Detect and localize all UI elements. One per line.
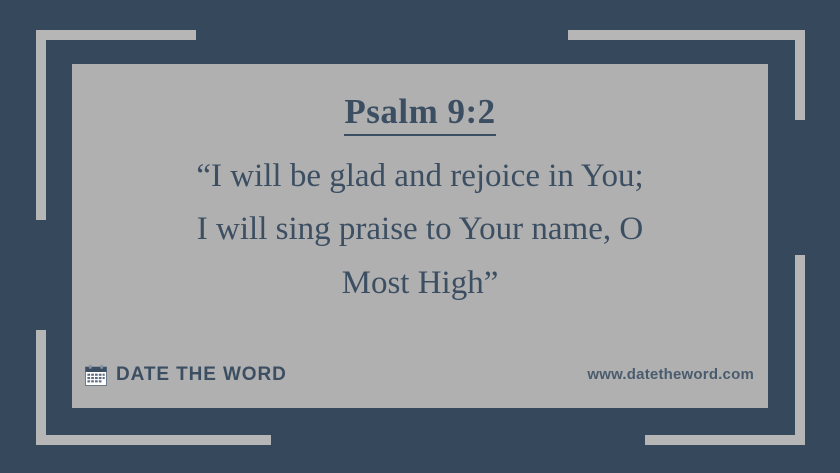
calendar-icon: [84, 363, 108, 387]
verse-text: “I will be glad and rejoice in You; I wi…: [72, 150, 768, 310]
corner-bracket-top-left-vertical: [36, 30, 46, 220]
site-url: www.datetheword.com: [587, 358, 754, 392]
corner-bracket-top-right-vertical: [795, 30, 805, 120]
slide-footer: DATE THE WORD www.datetheword.com: [72, 358, 768, 392]
corner-bracket-bottom-left-vertical: [36, 330, 46, 445]
verse-reference: Psalm 9:2: [344, 94, 495, 136]
brand-logo: DATE THE WORD: [84, 358, 287, 392]
corner-bracket-top-left-horizontal: [36, 30, 196, 40]
corner-bracket-bottom-left-horizontal: [36, 435, 271, 445]
verse-line: I will sing praise to Your name, O: [88, 203, 752, 256]
verse-block: Psalm 9:2 “I will be glad and rejoice in…: [72, 94, 768, 310]
content-panel: Psalm 9:2 “I will be glad and rejoice in…: [72, 64, 768, 408]
corner-bracket-bottom-right-vertical: [795, 255, 805, 445]
verse-line: Most High”: [88, 257, 752, 310]
verse-slide: Psalm 9:2 “I will be glad and rejoice in…: [0, 0, 840, 473]
verse-line: “I will be glad and rejoice in You;: [88, 150, 752, 203]
brand-name: DATE THE WORD: [116, 364, 287, 386]
corner-bracket-top-right-horizontal: [568, 30, 805, 40]
corner-bracket-bottom-right-horizontal: [645, 435, 805, 445]
